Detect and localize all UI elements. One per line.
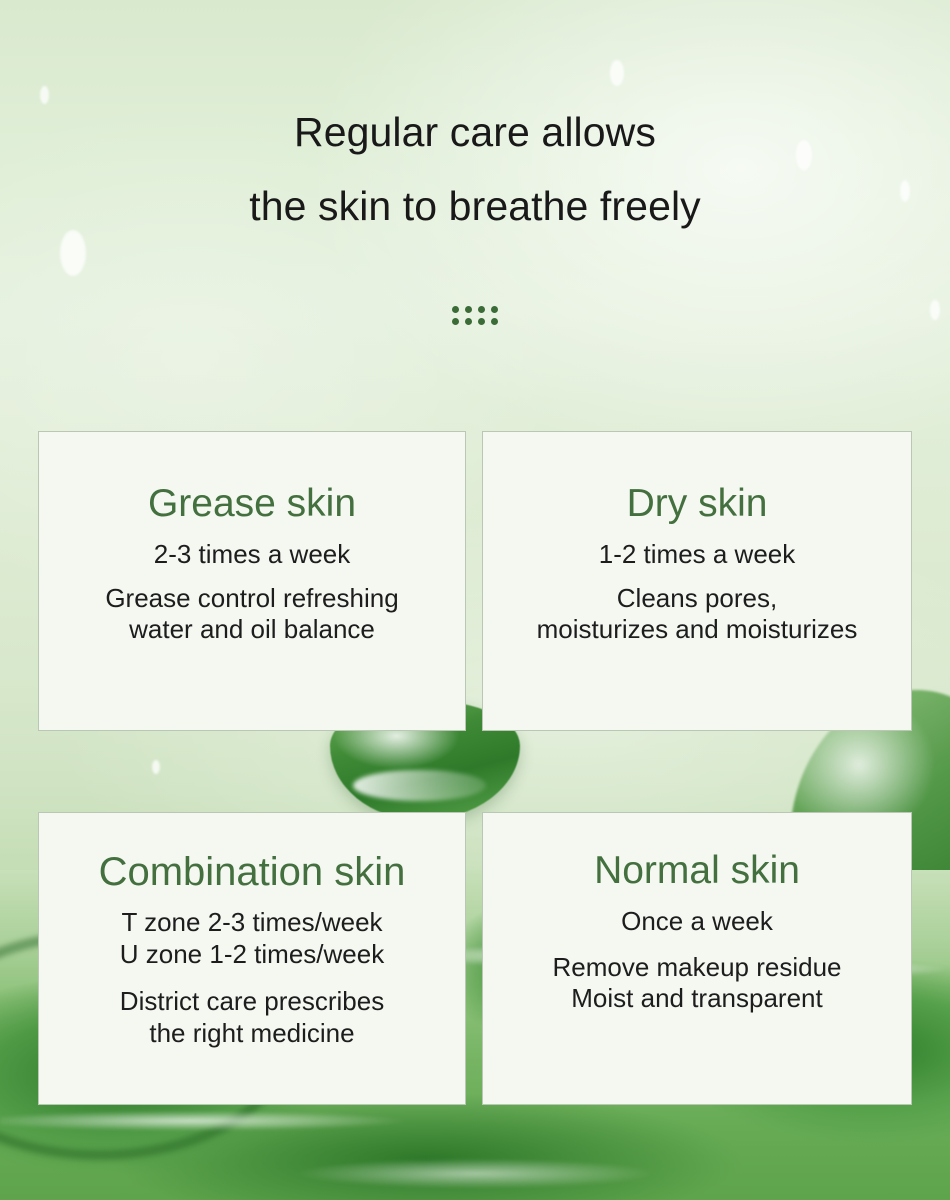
skin-type-card-dry: Dry skin 1-2 times a week Cleans pores, …: [482, 431, 912, 731]
card-title: Combination skin: [39, 851, 465, 893]
card-body: Once a week Remove makeup residue Moist …: [483, 906, 911, 1015]
card-benefit-line: Cleans pores,: [483, 583, 911, 615]
card-frequency: Once a week: [483, 906, 911, 938]
page-title: Regular care allows the skin to breathe …: [0, 112, 950, 227]
card-body: T zone 2-3 times/week U zone 1-2 times/w…: [39, 907, 465, 1050]
card-benefit-line: Grease control refreshing: [39, 583, 465, 615]
card-frequency: U zone 1-2 times/week: [39, 939, 465, 971]
separator-dot: [491, 318, 498, 325]
water-speck: [60, 230, 86, 276]
card-benefit-line: the right medicine: [39, 1018, 465, 1050]
separator-dot: [452, 306, 459, 313]
skin-type-card-grease: Grease skin 2-3 times a week Grease cont…: [38, 431, 466, 731]
water-speck: [930, 300, 940, 320]
card-title: Grease skin: [39, 484, 465, 525]
separator-dot: [452, 318, 459, 325]
headline-line-2: the skin to breathe freely: [0, 186, 950, 227]
card-title: Normal skin: [483, 851, 911, 892]
dot-separator: [452, 306, 498, 325]
skin-type-card-normal: Normal skin Once a week Remove makeup re…: [482, 812, 912, 1105]
separator-dot: [491, 306, 498, 313]
card-title: Dry skin: [483, 484, 911, 525]
water-speck: [610, 60, 624, 86]
card-frequency: T zone 2-3 times/week: [39, 907, 465, 939]
skincare-infographic-poster: Regular care allows the skin to breathe …: [0, 0, 950, 1200]
separator-dot: [478, 306, 485, 313]
card-benefit-line: Moist and transparent: [483, 983, 911, 1015]
headline-line-1: Regular care allows: [294, 109, 656, 155]
card-body: 2-3 times a week Grease control refreshi…: [39, 539, 465, 646]
card-frequency: 1-2 times a week: [483, 539, 911, 571]
separator-dot: [465, 306, 472, 313]
water-speck: [40, 86, 49, 104]
card-benefit-line: moisturizes and moisturizes: [483, 614, 911, 646]
card-frequency: 2-3 times a week: [39, 539, 465, 571]
card-benefit-line: water and oil balance: [39, 614, 465, 646]
card-body: 1-2 times a week Cleans pores, moisturiz…: [483, 539, 911, 646]
card-benefit-line: Remove makeup residue: [483, 952, 911, 984]
card-benefit-line: District care prescribes: [39, 986, 465, 1018]
skin-type-card-combination: Combination skin T zone 2-3 times/week U…: [38, 812, 466, 1105]
separator-dot: [478, 318, 485, 325]
separator-dot: [465, 318, 472, 325]
water-speck: [152, 760, 160, 774]
